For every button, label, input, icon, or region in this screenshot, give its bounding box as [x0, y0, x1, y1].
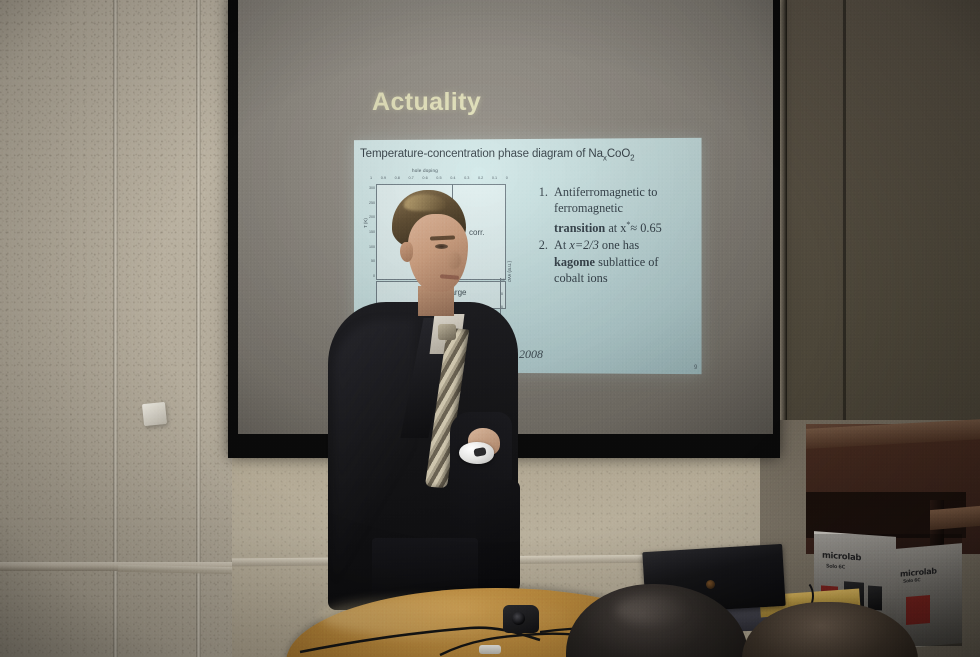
box-model-label: Solo 6C	[826, 563, 845, 570]
tick: 0.3	[464, 176, 469, 183]
bullet-item: 2. At x=2/3 one has kagome sublattice of…	[533, 237, 698, 286]
tick: 0.6	[422, 176, 427, 183]
bullet-item: 1. Antiferromagnetic to ferromagnetic tr…	[533, 184, 698, 236]
tick: 0.5	[436, 176, 441, 183]
wall-corner-edge	[780, 0, 787, 450]
bullet-number: 2.	[533, 237, 554, 286]
box-graphic-red-block	[906, 595, 930, 625]
bullet-line: ≈ 0.65	[630, 221, 661, 235]
device-lens	[512, 612, 525, 625]
hair-highlight	[616, 596, 686, 624]
tick: 0.4	[450, 176, 455, 183]
eye	[435, 244, 448, 249]
slide-page-number: 9	[694, 365, 697, 371]
tick: 0.9	[381, 176, 386, 183]
formula-na: Na	[588, 148, 603, 160]
heading-text: Temperature-concentration phase diagram …	[360, 148, 588, 160]
slide-panel-heading: Temperature-concentration phase diagram …	[360, 148, 690, 162]
formula-coo: CoO	[607, 148, 630, 160]
lecture-room-photo: Actuality Temperature-concentration phas…	[0, 0, 980, 657]
bullet-emphasis: kagome	[554, 255, 595, 269]
laptop-logo	[706, 580, 715, 589]
bullet-line: ferromagnetic	[554, 201, 623, 215]
wall-panel-seam	[843, 0, 846, 430]
tick: 0	[506, 176, 508, 183]
bullet-emphasis: transition	[554, 221, 605, 235]
slide-title: Actuality	[372, 88, 481, 117]
bullet-italic: x=2/3	[569, 238, 598, 252]
bullet-line: Antiferromagnetic to	[554, 185, 657, 199]
tick: 1	[370, 176, 372, 183]
formula-2-subscript: 2	[630, 153, 634, 162]
wall-outlet-box	[142, 402, 167, 426]
figure-top-ticks: 1 0.9 0.8 0.7 0.6 0.5 0.4 0.3 0.2 0.1 0	[370, 176, 508, 183]
necktie-knot	[438, 324, 456, 340]
tick: 0.2	[478, 176, 483, 183]
ear	[400, 242, 413, 262]
bullet-text: At x=2/3 one has kagome sublattice of co…	[554, 237, 698, 286]
shoulder-bag	[476, 480, 520, 598]
bullet-line: cobalt ions	[554, 271, 608, 285]
bullet-line: one has	[599, 238, 639, 252]
hair-highlight	[404, 194, 446, 211]
tick: 0.7	[409, 176, 414, 183]
bullet-text: Antiferromagnetic to ferromagnetic trans…	[554, 184, 698, 236]
slide-bullet-list: 1. Antiferromagnetic to ferromagnetic tr…	[533, 184, 698, 288]
bullet-line: At	[554, 238, 569, 252]
face	[408, 214, 468, 292]
bullet-line: sublattice of	[595, 255, 659, 269]
white-connector	[479, 645, 501, 654]
bullet-number: 1.	[533, 184, 554, 236]
tick: 0.1	[492, 176, 497, 183]
bullet-line: at x	[605, 221, 626, 235]
tick: 0.8	[395, 176, 400, 183]
figure-top-axis-label: hole doping	[412, 168, 438, 173]
box-graphic-speaker	[868, 586, 882, 611]
wall-panel-seam	[196, 0, 201, 657]
wall-panel-seam	[113, 0, 118, 657]
